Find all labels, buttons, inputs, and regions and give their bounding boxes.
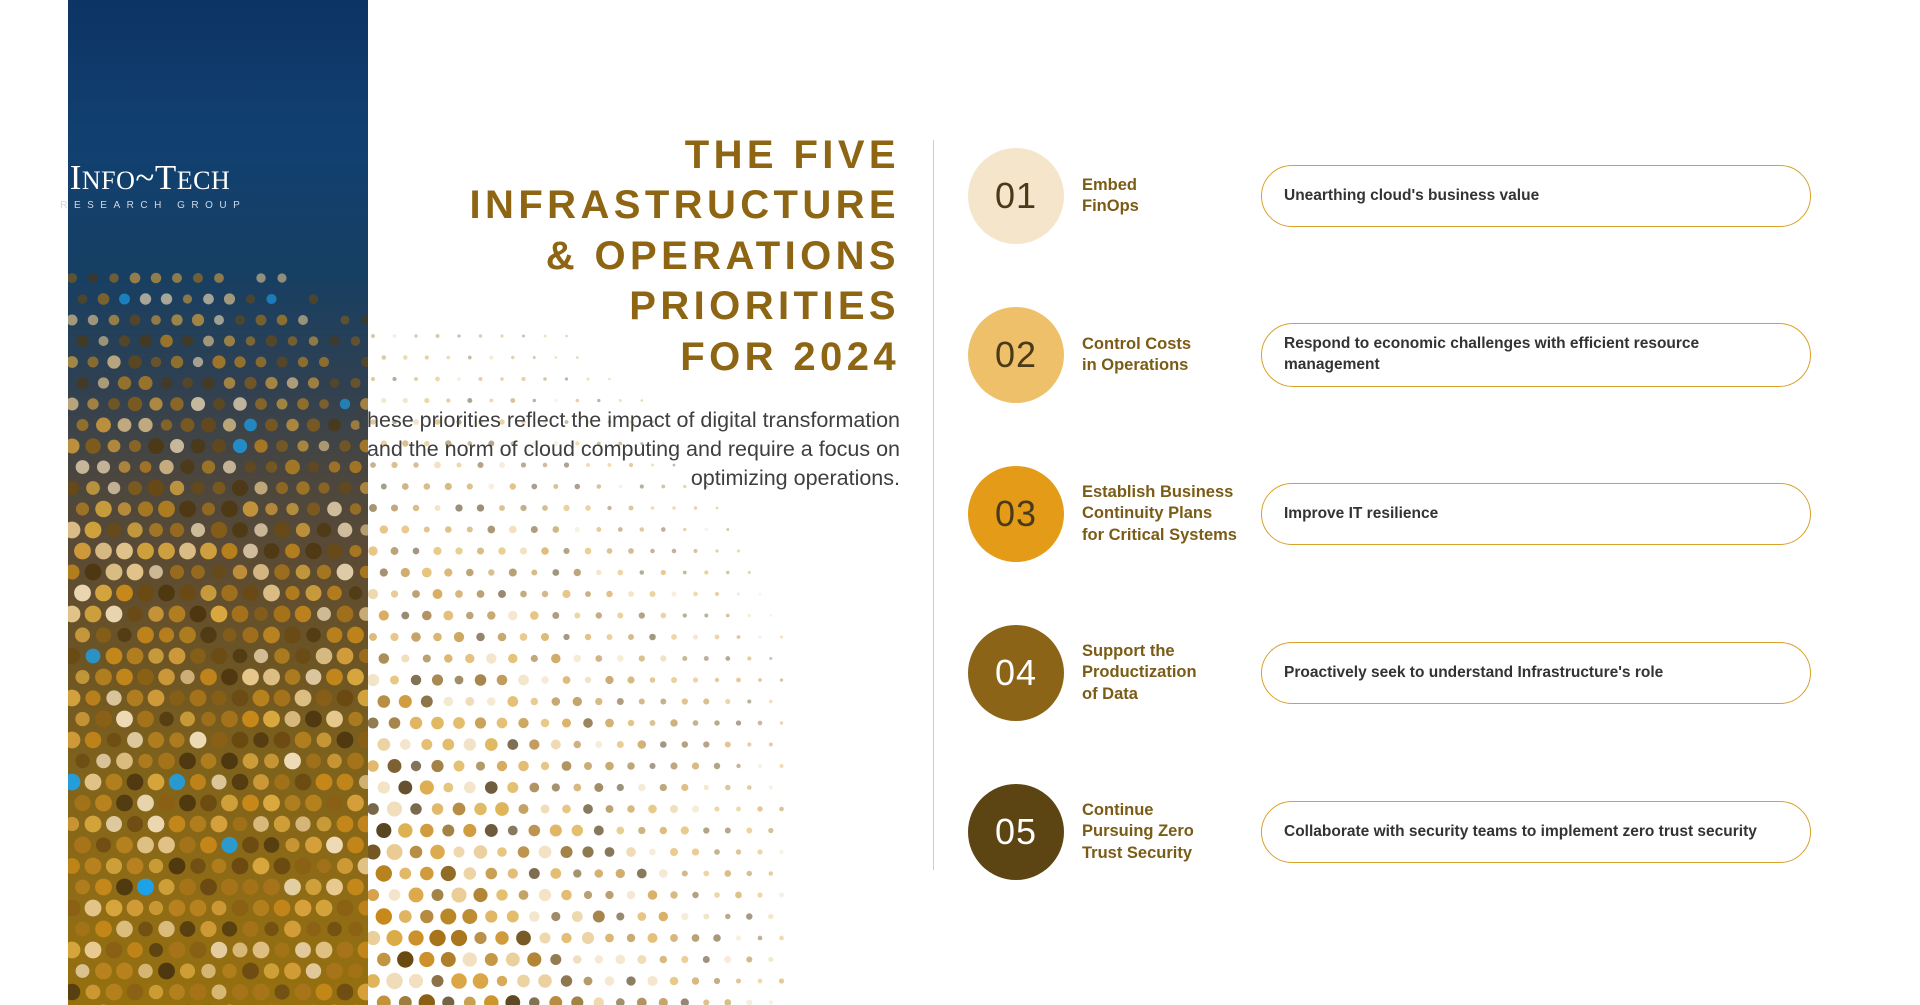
priority-number-badge: 03 [968, 466, 1064, 562]
priority-detail-pill[interactable]: Unearthing cloud's business value [1261, 165, 1811, 227]
priority-number-badge: 02 [968, 307, 1064, 403]
priority-row: 04Support the Productization of DataProa… [968, 617, 1808, 729]
priority-title: Control Costs in Operations [1082, 334, 1247, 376]
priority-number-badge: 04 [968, 625, 1064, 721]
priority-number-badge: 01 [968, 148, 1064, 244]
priority-row: 01Embed FinOpsUnearthing cloud's busines… [968, 140, 1808, 252]
title-line: PRIORITIES [629, 284, 900, 328]
priority-detail-pill[interactable]: Proactively seek to understand Infrastru… [1261, 642, 1811, 704]
left-brand-panel [68, 0, 368, 1005]
priority-detail-text: Collaborate with security teams to imple… [1284, 822, 1757, 843]
priority-title: Continue Pursuing Zero Trust Security [1082, 800, 1247, 863]
title-line: THE FIVE [685, 133, 900, 177]
priority-title: Embed FinOps [1082, 175, 1247, 217]
priorities-list: 01Embed FinOpsUnearthing cloud's busines… [968, 140, 1808, 888]
title-line: INFRASTRUCTURE [470, 183, 900, 227]
title-line: FOR 2024 [680, 335, 900, 379]
page-title: THE FIVEINFRASTRUCTURE& OPERATIONSPRIORI… [330, 130, 900, 382]
priority-detail-text: Proactively seek to understand Infrastru… [1284, 663, 1663, 684]
vertical-divider [933, 140, 934, 870]
priority-number-badge: 05 [968, 784, 1064, 880]
priority-detail-text: Improve IT resilience [1284, 504, 1438, 525]
priority-title: Establish Business Continuity Plans for … [1082, 482, 1247, 545]
priority-detail-pill[interactable]: Improve IT resilience [1261, 483, 1811, 545]
priority-detail-pill[interactable]: Respond to economic challenges with effi… [1261, 323, 1811, 387]
page-subtitle: These priorities reflect the impact of d… [330, 406, 900, 493]
priority-detail-text: Unearthing cloud's business value [1284, 186, 1539, 207]
priority-row: 03Establish Business Continuity Plans fo… [968, 458, 1808, 570]
priority-row: 02Control Costs in OperationsRespond to … [968, 299, 1808, 411]
priority-row: 05Continue Pursuing Zero Trust SecurityC… [968, 776, 1808, 888]
slide-canvas: INFO~TECH RESEARCH GROUP THE FIVEINFRAST… [0, 0, 1920, 1005]
title-line: & OPERATIONS [546, 234, 900, 278]
title-block: THE FIVEINFRASTRUCTURE& OPERATIONSPRIORI… [330, 130, 900, 493]
priority-detail-text: Respond to economic challenges with effi… [1284, 334, 1788, 376]
priority-title: Support the Productization of Data [1082, 641, 1247, 704]
priority-detail-pill[interactable]: Collaborate with security teams to imple… [1261, 801, 1811, 863]
